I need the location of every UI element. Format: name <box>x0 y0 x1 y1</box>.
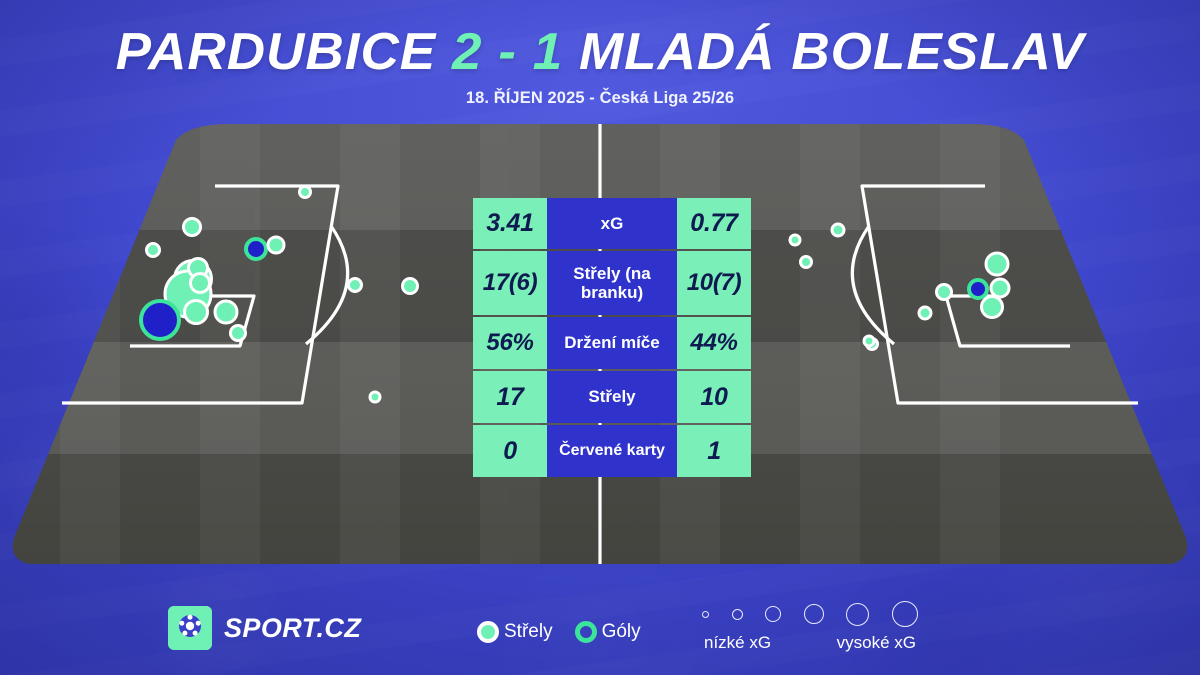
stat-away-value: 10 <box>677 371 751 423</box>
stat-label: Střely <box>547 371 677 423</box>
xg-low-label: nízké xG <box>704 633 771 653</box>
legend-item-goals: Góly <box>575 621 641 643</box>
stats-table: 3.41xG0.7717(6)Střely (na branku)10(7)56… <box>473 198 753 479</box>
score-separator: - <box>498 23 517 81</box>
header: PARDUBICE 2 - 1 MLADÁ BOLESLAV 18. ŘÍJEN… <box>0 26 1200 108</box>
stat-home-value: 17 <box>473 371 547 423</box>
marker-legend: Střely Góly <box>477 621 641 643</box>
shot-marker-icon <box>477 621 499 643</box>
xg-size-legend: nízké xG vysoké xG <box>700 601 920 653</box>
match-subtitle: 18. ŘÍJEN 2025 - Česká Liga 25/26 <box>0 89 1200 108</box>
footer: SPORT.CZ Střely Góly nízké xG <box>0 570 1200 675</box>
home-team-name: PARDUBICE <box>116 23 437 81</box>
xg-scale-dot-2 <box>732 609 743 620</box>
stat-home-value: 56% <box>473 317 547 369</box>
stats-row: 17(6)Střely (na branku)10(7) <box>473 251 753 315</box>
xg-scale-dot-6 <box>892 601 918 627</box>
stat-away-value: 10(7) <box>677 251 751 315</box>
legend-goals-label: Góly <box>602 621 641 643</box>
xg-scale-dot-5 <box>846 603 869 626</box>
legend-shots-label: Střely <box>504 621 553 643</box>
sport-cz-logo[interactable]: SPORT.CZ <box>168 606 361 650</box>
stat-away-value: 1 <box>677 425 751 477</box>
infographic-root: PARDUBICE 2 - 1 MLADÁ BOLESLAV 18. ŘÍJEN… <box>0 0 1200 675</box>
stat-label: Držení míče <box>547 317 677 369</box>
goal-marker-icon <box>575 621 597 643</box>
stat-label: Červené karty <box>547 425 677 477</box>
stat-label: Střely (na branku) <box>547 251 677 315</box>
stat-home-value: 17(6) <box>473 251 547 315</box>
stats-row: 0Červené karty1 <box>473 425 753 477</box>
stats-row: 56%Držení míče44% <box>473 317 753 369</box>
xg-scale-labels: nízké xG vysoké xG <box>700 633 920 653</box>
stat-home-value: 0 <box>473 425 547 477</box>
away-team-name: MLADÁ BOLESLAV <box>579 23 1084 81</box>
stat-away-value: 44% <box>677 317 751 369</box>
football-icon <box>168 606 212 650</box>
xg-high-label: vysoké xG <box>837 633 916 653</box>
legend-item-shots: Střely <box>477 621 553 643</box>
logo-wordmark: SPORT.CZ <box>224 613 361 644</box>
home-score: 2 <box>452 23 483 81</box>
stat-label: xG <box>547 198 677 249</box>
away-score: 1 <box>533 23 564 81</box>
scoreline: PARDUBICE 2 - 1 MLADÁ BOLESLAV <box>0 26 1200 78</box>
xg-scale-dot-4 <box>804 604 824 624</box>
xg-scale-dot-3 <box>765 606 781 622</box>
stat-away-value: 0.77 <box>677 198 751 249</box>
stats-row: 17Střely10 <box>473 371 753 423</box>
stat-home-value: 3.41 <box>473 198 547 249</box>
stats-row: 3.41xG0.77 <box>473 198 753 249</box>
xg-scale-dots <box>700 601 920 627</box>
xg-scale-dot-1 <box>702 611 709 618</box>
